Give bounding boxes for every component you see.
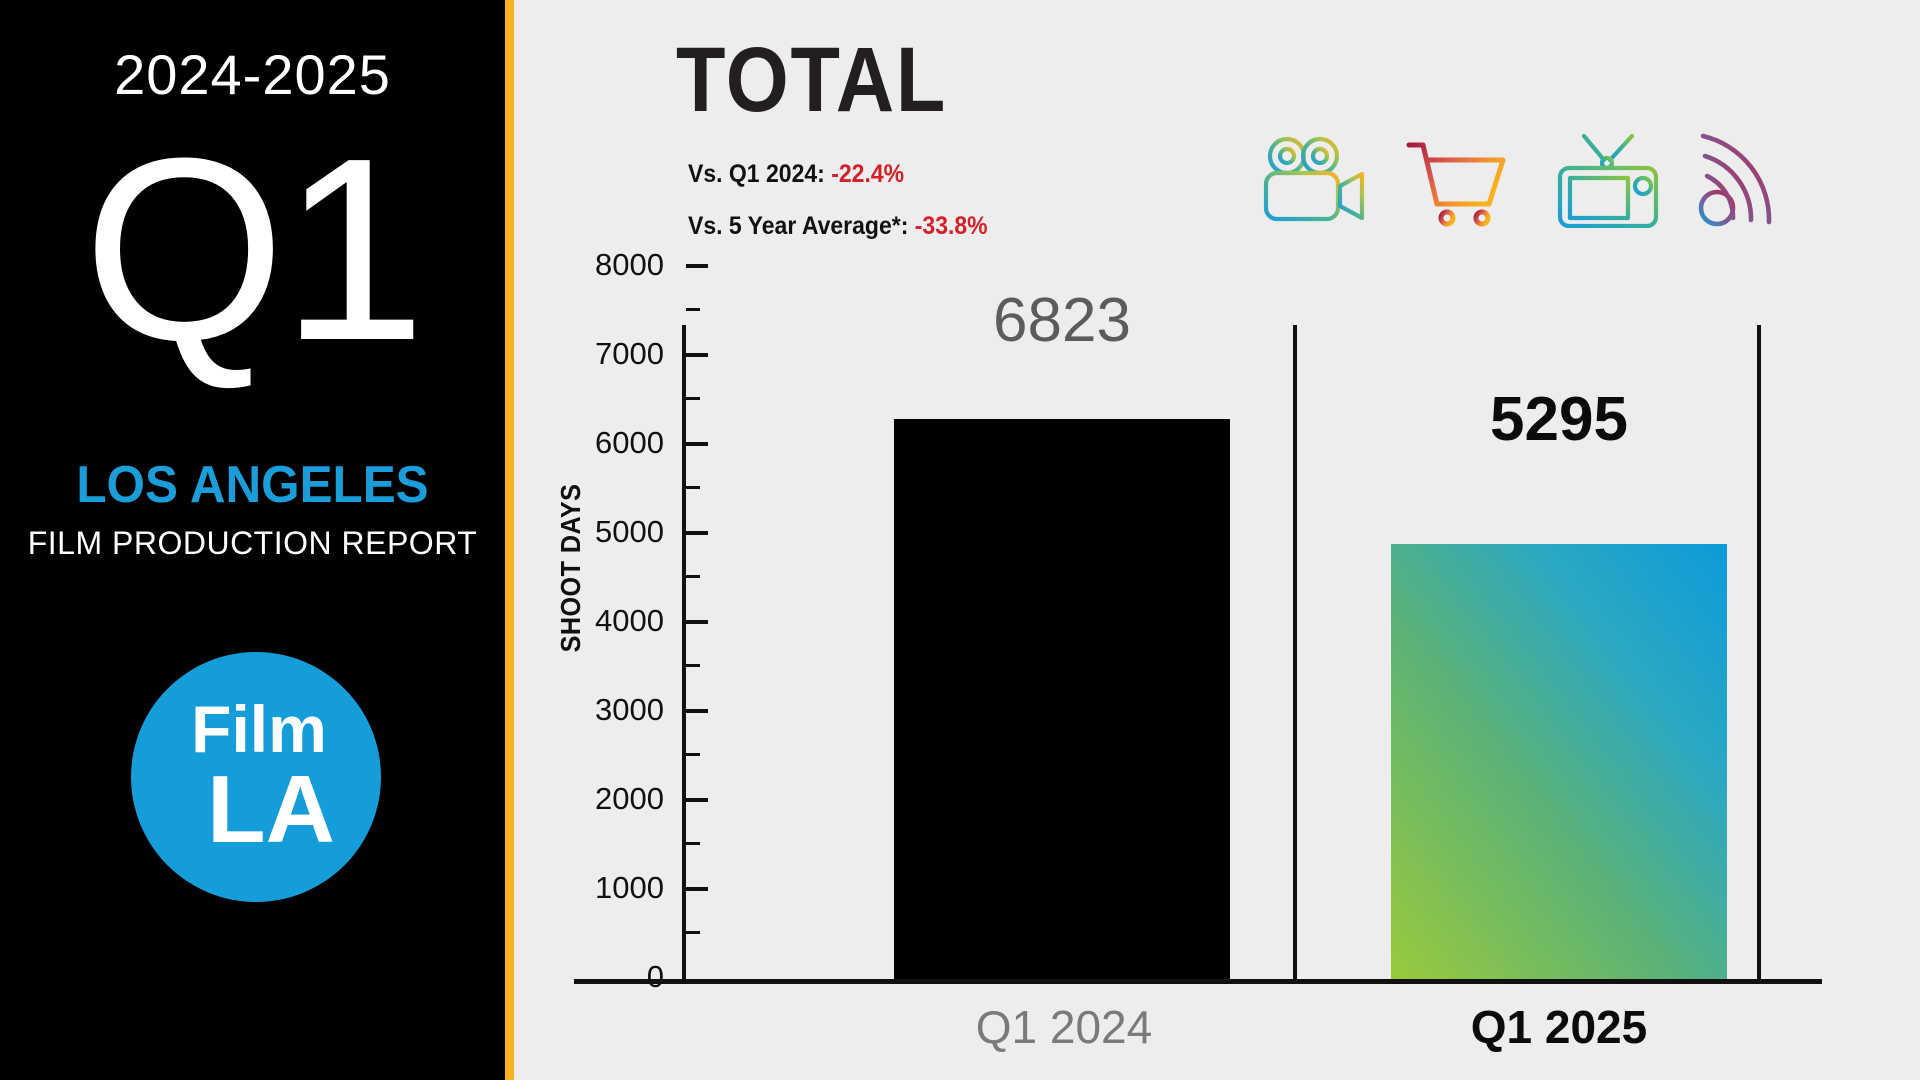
y-tick-minor xyxy=(686,753,700,756)
y-tick-label-7000: 7000 xyxy=(544,336,664,372)
bar-q1-2025 xyxy=(1391,544,1727,979)
y-tick-major xyxy=(686,353,708,357)
year-range-label: 2024-2025 xyxy=(0,42,505,107)
y-tick-minor xyxy=(686,842,700,845)
y-tick-major xyxy=(686,887,708,891)
y-axis-line xyxy=(682,325,686,981)
bar-value-q1-2025: 5295 xyxy=(1391,384,1727,455)
y-tick-minor xyxy=(686,931,700,934)
y-tick-major xyxy=(686,531,708,535)
y-tick-minor xyxy=(686,664,700,667)
y-tick-label-2000: 2000 xyxy=(544,781,664,817)
y-tick-minor xyxy=(686,308,700,311)
x-tick-label-q1-2025: Q1 2025 xyxy=(1344,1000,1774,1054)
report-page: 2024-2025 Q1 LOS ANGELES FILM PRODUCTION… xyxy=(0,0,1920,1080)
x-axis-line xyxy=(574,979,1822,984)
y-tick-minor xyxy=(686,486,700,489)
accent-divider xyxy=(505,0,514,1080)
report-title-label: FILM PRODUCTION REPORT xyxy=(0,525,505,562)
y-tick-label-1000: 1000 xyxy=(544,870,664,906)
y-tick-label-5000: 5000 xyxy=(544,514,664,550)
y-tick-major xyxy=(686,709,708,713)
series-separator-line xyxy=(1293,325,1297,981)
x-tick-label-q1-2024: Q1 2024 xyxy=(854,1000,1274,1054)
y-tick-label-6000: 6000 xyxy=(544,425,664,461)
y-tick-minor xyxy=(686,575,700,578)
filmla-logo: Film LA xyxy=(131,652,381,902)
bar-q1-2024 xyxy=(894,419,1230,979)
y-tick-label-0: 0 xyxy=(544,959,664,995)
y-tick-label-4000: 4000 xyxy=(544,603,664,639)
y-tick-label-3000: 3000 xyxy=(544,692,664,728)
y-tick-major xyxy=(686,620,708,624)
y-tick-major xyxy=(686,798,708,802)
sidebar-panel: 2024-2025 Q1 LOS ANGELES FILM PRODUCTION… xyxy=(0,0,505,1080)
plot-right-edge-line xyxy=(1757,325,1761,981)
y-tick-label-8000: 8000 xyxy=(544,247,664,283)
y-tick-minor xyxy=(686,397,700,400)
logo-la-text: LA xyxy=(131,762,381,858)
logo-film-text: Film xyxy=(131,696,381,762)
city-label: LOS ANGELES xyxy=(13,455,493,515)
y-tick-major xyxy=(686,442,708,446)
shoot-days-bar-chart: SHOOT DAYS 8000 7000 6000 5000 4000 3000… xyxy=(514,0,1920,1080)
bar-value-q1-2024: 6823 xyxy=(894,285,1230,356)
quarter-label: Q1 xyxy=(0,120,505,380)
y-tick-major xyxy=(686,264,708,268)
